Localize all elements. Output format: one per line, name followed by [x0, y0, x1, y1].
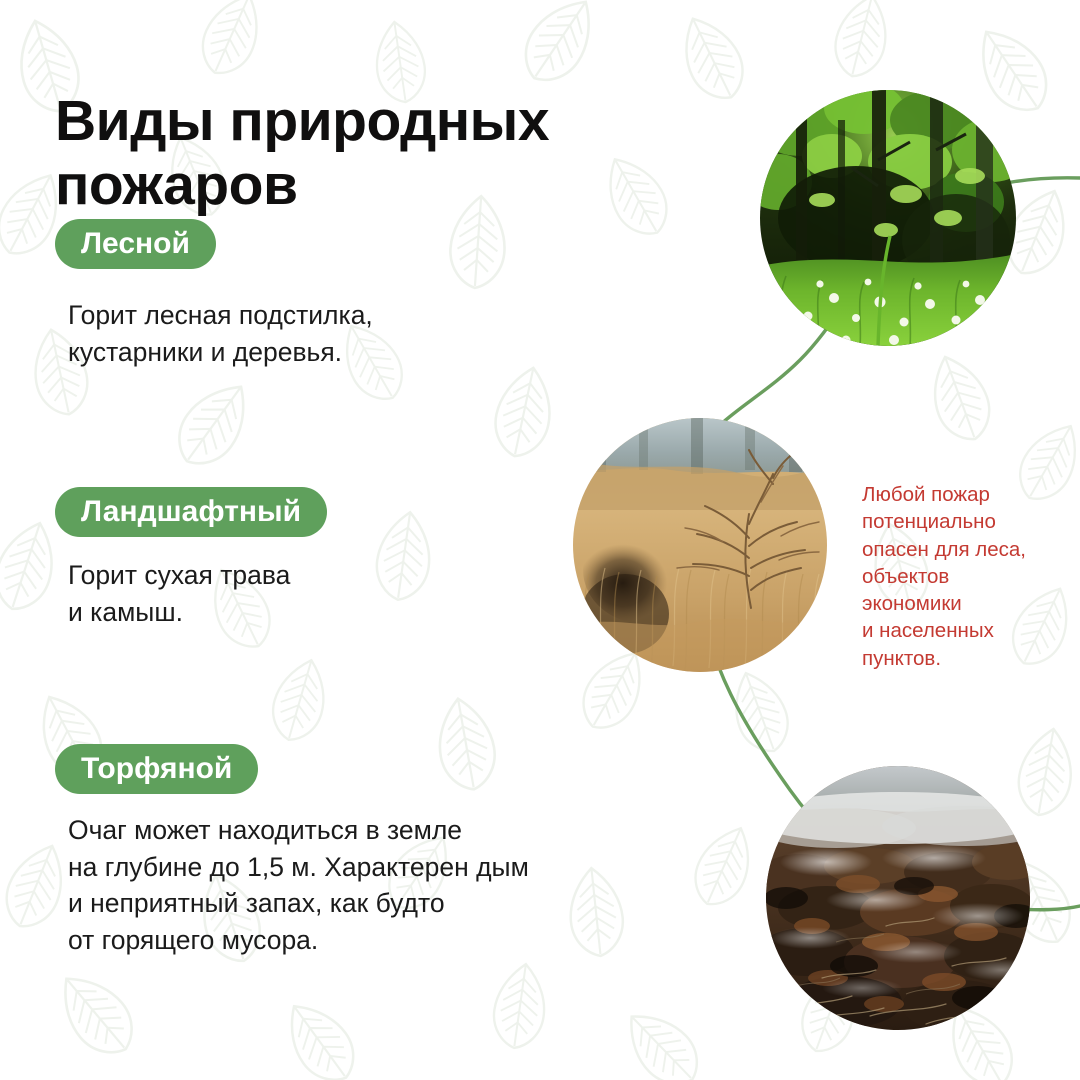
badge-landscape: Ландшафтный [55, 487, 327, 537]
title-line-1: Виды природных [55, 90, 715, 154]
forest-photo [760, 90, 1016, 346]
warning-line-5: экономики [862, 590, 1067, 617]
peat-photo [766, 766, 1030, 1030]
description-peat-line-4: от горящего мусора. [68, 922, 608, 959]
badge-peat: Торфяной [55, 744, 258, 794]
description-peat: Очаг может находиться в земле на глубине… [68, 812, 608, 958]
warning-line-3: опасен для леса, [862, 536, 1067, 563]
page-title: Виды природных пожаров [55, 90, 715, 218]
warning-line-4: объектов [862, 563, 1067, 590]
description-forest-line-2: кустарники и деревья. [68, 334, 538, 371]
description-landscape-line-2: и камыш. [68, 594, 488, 631]
infographic-poster: Виды природных пожаров Лесной Горит лесн… [0, 0, 1080, 1080]
warning-text: Любой пожар потенциально опасен для леса… [862, 481, 1067, 672]
title-line-2: пожаров [55, 154, 715, 218]
warning-line-1: Любой пожар [862, 481, 1067, 508]
warning-line-2: потенциально [862, 508, 1067, 535]
description-peat-line-1: Очаг может находиться в земле [68, 812, 608, 849]
warning-line-6: и населенных [862, 617, 1067, 644]
badge-forest: Лесной [55, 219, 216, 269]
dry-grass-photo [573, 418, 827, 672]
description-forest-line-1: Горит лесная подстилка, [68, 297, 538, 334]
description-landscape-line-1: Горит сухая трава [68, 557, 488, 594]
warning-line-7: пунктов. [862, 645, 1067, 672]
description-landscape: Горит сухая трава и камыш. [68, 557, 488, 630]
description-forest: Горит лесная подстилка, кустарники и дер… [68, 297, 538, 370]
description-peat-line-3: и неприятный запах, как будто [68, 885, 608, 922]
description-peat-line-2: на глубине до 1,5 м. Характерен дым [68, 849, 608, 886]
